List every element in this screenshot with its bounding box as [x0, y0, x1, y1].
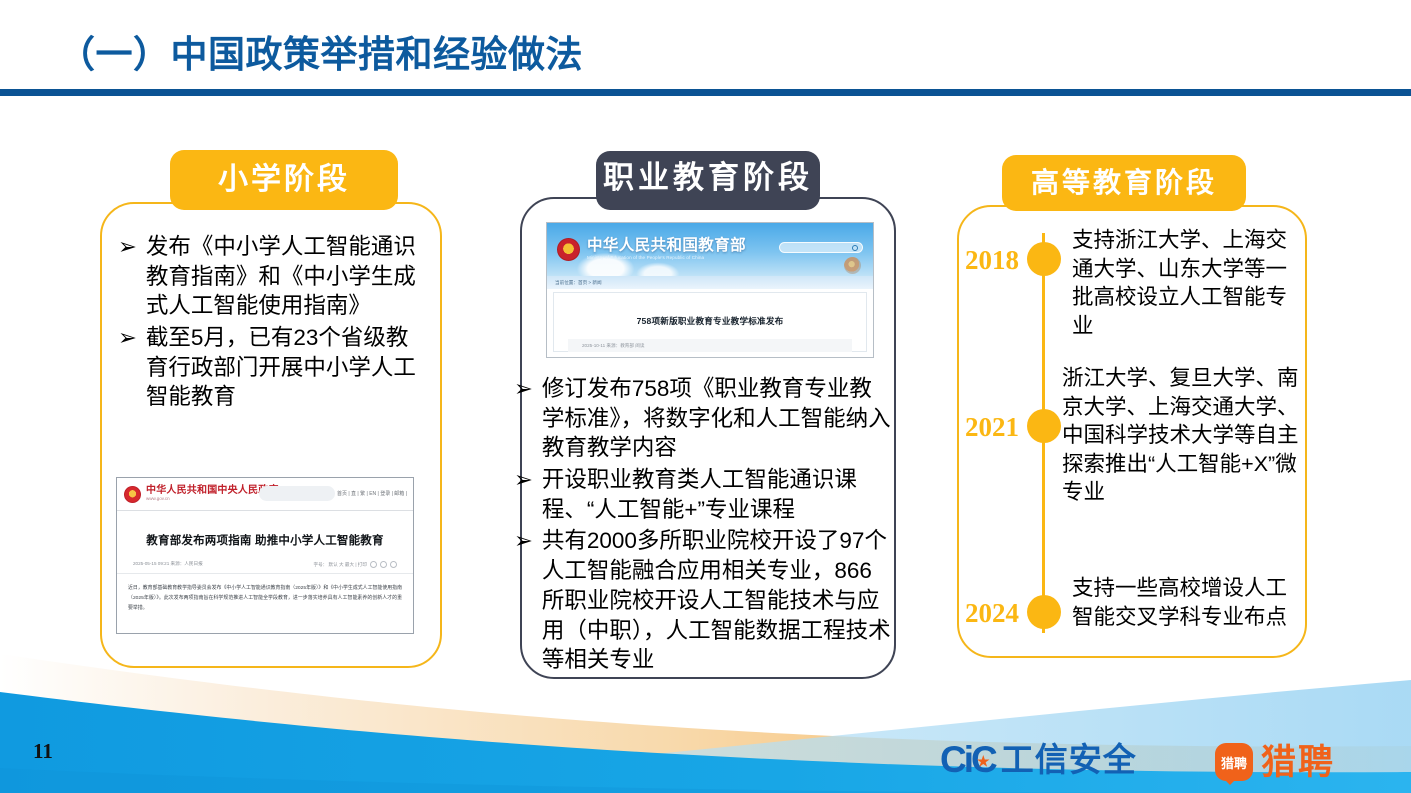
decorative-waves	[0, 600, 1411, 793]
page-title: （一）中国政策举措和经验做法	[58, 24, 583, 78]
gov-search-input[interactable]	[259, 486, 335, 501]
moe-site-name: 中华人民共和国教育部	[587, 238, 746, 254]
moe-article-headline: 758项新版职业教育专业教学标准发布	[554, 315, 866, 327]
bullet-arrow-icon: ➢	[514, 526, 533, 556]
timeline-text-2021: 浙江大学、复旦大学、南京大学、上海交通大学、中国科学技术大学等自主探索推出“人工…	[1062, 364, 1304, 507]
gov-article-meta: 2025-05-15 09:21 来源：人民日报 字号： 默认 大 最大 | 打…	[117, 548, 413, 574]
wechat-icon[interactable]	[390, 561, 397, 568]
share-icon[interactable]	[370, 561, 377, 568]
decorative-flower-icon	[844, 257, 861, 274]
liepin-label: 猎聘	[1261, 745, 1335, 780]
liepin-bubble-icon: 猎聘	[1215, 743, 1253, 781]
moe-header: 中华人民共和国教育部 Ministry of Education of the …	[547, 223, 873, 276]
moe-article-panel: 758项新版职业教育专业教学标准发布 2025-10-11 来源：教育部 阅读 …	[553, 292, 867, 352]
gov-meta-right: 字号： 默认 大 最大 | 打印	[313, 561, 397, 568]
slide-canvas: （一）中国政策举措和经验做法 小学阶段 ➢ 发布《中小学人工智能通识教育指南》和…	[0, 0, 1411, 793]
weibo-icon[interactable]	[380, 561, 387, 568]
gov-header: 中华人民共和国中央人民政府 www.gov.cn 首页 | 直 | 繁 | EN…	[117, 478, 413, 511]
logo-liepin: 猎聘 猎聘	[1215, 743, 1335, 781]
star-icon: ★	[977, 754, 987, 768]
title-divider	[0, 89, 1411, 96]
bullet-arrow-icon: ➢	[118, 323, 137, 353]
search-icon	[852, 245, 858, 251]
timeline-dot-2018	[1027, 242, 1061, 276]
badge-higher-education: 高等教育阶段	[1002, 155, 1246, 211]
timeline-year-2021: 2021	[947, 412, 1019, 443]
logo-cic: CiC ★ 工信安全	[940, 741, 1137, 778]
list-item: ➢ 开设职业教育类人工智能通识课程、“人工智能+”专业课程	[514, 465, 892, 524]
moe-article-meta: 2025-10-11 来源：教育部 阅读	[568, 339, 852, 352]
gov-article-headline: 教育部发布两项指南 助推中小学人工智能教育	[117, 532, 413, 548]
moe-breadcrumb: 当前位置：首页 > 新闻	[547, 276, 873, 289]
bullet-arrow-icon: ➢	[514, 465, 533, 495]
national-emblem-icon	[557, 238, 580, 261]
timeline-dot-2021	[1027, 409, 1061, 443]
list-item: ➢ 截至5月，已有23个省级教育行政部门开展中小学人工智能教育	[118, 323, 428, 412]
timeline-higher-education: 2018 支持浙江大学、上海交通大学、山东大学等一批高校设立人工智能专业 202…	[957, 205, 1307, 658]
bullet-arrow-icon: ➢	[514, 374, 533, 404]
cic-label: 工信安全	[1001, 743, 1137, 776]
moe-site-name-en: Ministry of Education of the People's Re…	[587, 254, 746, 261]
badge-primary-education: 小学阶段	[170, 150, 398, 210]
moe-article-body: 近日，教育部印发758项新修（制）订的职业教育专业教学标准（以下简称新标准）。	[554, 352, 866, 358]
gov-nav-links[interactable]: 首页 | 直 | 繁 | EN | 登录 | 邮箱 |	[337, 490, 407, 497]
page-number: 11	[33, 739, 53, 764]
timeline-year-2018: 2018	[947, 245, 1019, 276]
moe-search-input[interactable]	[779, 242, 863, 253]
timeline-text-2018: 支持浙江大学、上海交通大学、山东大学等一批高校设立人工智能专业	[1072, 226, 1304, 340]
list-item: ➢ 修订发布758项《职业教育专业教学标准》，将数字化和人工智能纳入教育教学内容	[514, 374, 892, 463]
bullet-list-primary-education: ➢ 发布《中小学人工智能通识教育指南》和《中小学生成式人工智能使用指南》 ➢ 截…	[118, 232, 428, 414]
national-emblem-icon	[124, 486, 141, 503]
screenshot-moe-gov-cn: 中华人民共和国教育部 Ministry of Education of the …	[546, 222, 874, 358]
list-item: ➢ 发布《中小学人工智能通识教育指南》和《中小学生成式人工智能使用指南》	[118, 232, 428, 321]
gov-meta-left: 2025-05-15 09:21 来源：人民日报	[133, 561, 203, 568]
badge-vocational-education: 职业教育阶段	[596, 151, 820, 210]
bullet-arrow-icon: ➢	[118, 232, 137, 262]
gov-site-url: www.gov.cn	[146, 496, 279, 502]
cic-mark-text: CiC ★	[940, 741, 995, 778]
